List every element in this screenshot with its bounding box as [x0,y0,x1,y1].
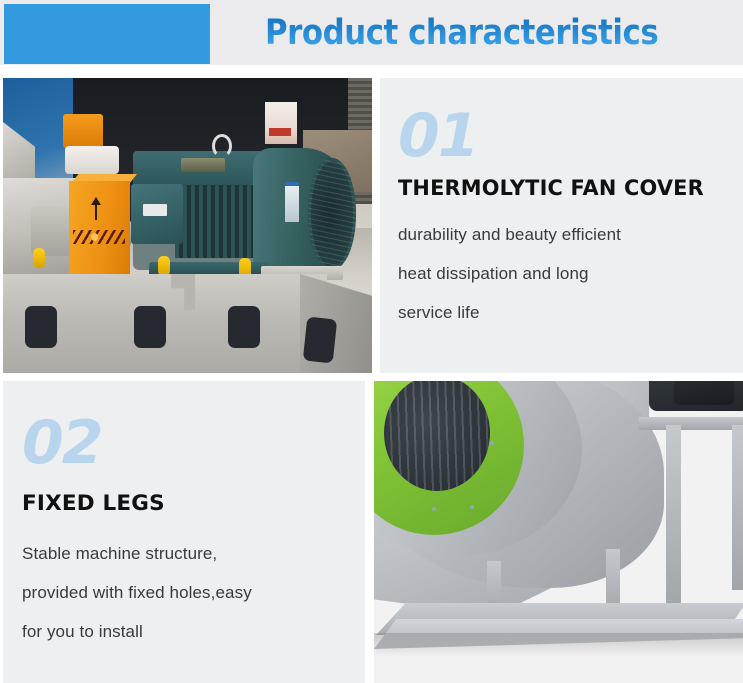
feature-image-01 [3,78,372,373]
page-title: Product characteristics [265,0,686,65]
feature-body-line: for you to install [22,612,355,651]
feature-body-02: Stable machine structure, provided with … [22,534,355,651]
feature-title-01: THERMOLYTIC FAN COVER [398,176,731,201]
feature-body-01: durability and beauty efficient heat dis… [398,215,741,332]
feature-body-line: durability and beauty efficient [398,215,741,254]
feature-title-02: FIXED LEGS [22,491,355,516]
feature-text-02: 02 FIXED LEGS Stable machine structure, … [3,381,365,683]
feature-text-01: 01 THERMOLYTIC FAN COVER durability and … [380,78,743,373]
feature-image-02 [374,381,743,683]
feature-row-01: 01 THERMOLYTIC FAN COVER durability and … [0,78,743,373]
feature-body-line: provided with fixed holes,easy [22,573,355,612]
feature-row-02: 02 FIXED LEGS Stable machine structure, … [0,381,743,683]
feature-body-line: service life [398,293,741,332]
feature-body-line: Stable machine structure, [22,534,355,573]
motor-photo [3,78,372,373]
page-header: Product characteristics [0,0,743,65]
feature-body-line: heat dissipation and long [398,254,741,293]
blower-photo [374,381,743,683]
header-accent-block [4,4,210,64]
feature-number-01: 01 [398,106,741,166]
feature-number-02: 02 [22,413,355,473]
